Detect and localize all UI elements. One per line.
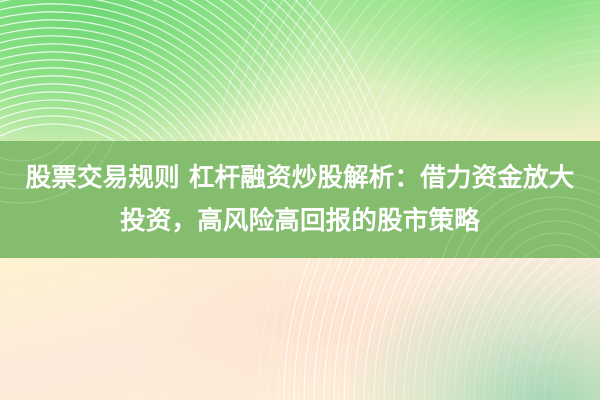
top-arc-pattern: [0, 0, 600, 142]
bottom-decorative-area: [0, 258, 600, 400]
top-decorative-area: [0, 0, 600, 142]
page-title: 股票交易规则 杠杆融资炒股解析：借力资金放大 投资，高风险高回报的股市策略: [22, 157, 578, 243]
title-band: 股票交易规则 杠杆融资炒股解析：借力资金放大 投资，高风险高回报的股市策略: [0, 141, 600, 259]
bottom-arc-pattern: [0, 258, 600, 400]
article-header-banner: 股票交易规则 杠杆融资炒股解析：借力资金放大 投资，高风险高回报的股市策略: [0, 0, 600, 400]
